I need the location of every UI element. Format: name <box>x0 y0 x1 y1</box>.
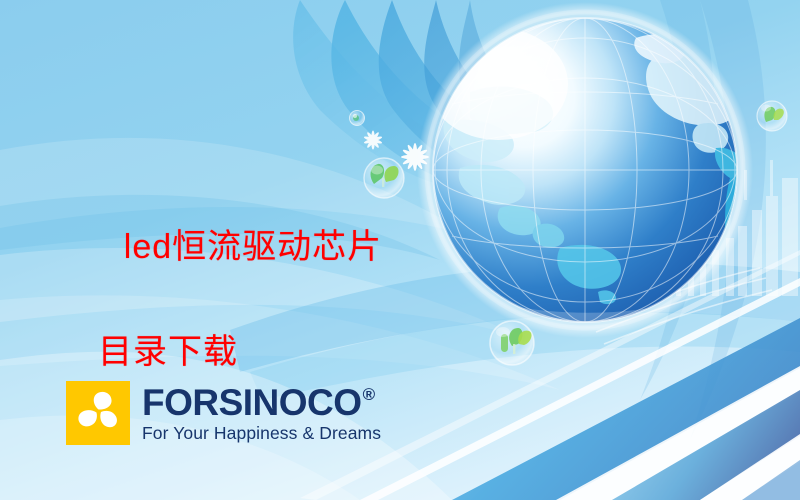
bubble-top-right <box>757 101 787 131</box>
bubble-small-upper <box>350 111 365 126</box>
logo-text-block: FORSINOCO ® For Your Happiness & Dreams <box>142 384 381 443</box>
brand-logo[interactable]: FORSINOCO ® For Your Happiness & Dreams <box>66 381 381 445</box>
four-petal-pinwheel-icon <box>66 381 130 445</box>
promo-banner: led恒流驱动芯片 目录下载 FORSINOCO ® For Your Happ… <box>0 0 800 500</box>
logo-tagline: For Your Happiness & Dreams <box>142 425 381 443</box>
daisy-sparkle-small <box>363 131 382 150</box>
registered-trademark-icon: ® <box>363 386 375 403</box>
headline-line-1: led恒流驱动芯片 <box>124 228 382 266</box>
headline-line-2: 目录下载 <box>98 326 382 379</box>
bubble-lower-center <box>490 321 534 365</box>
daisy-sparkle-large <box>401 143 429 171</box>
logo-wordmark-text: FORSINOCO <box>142 384 362 421</box>
logo-wordmark: FORSINOCO ® <box>142 384 381 421</box>
